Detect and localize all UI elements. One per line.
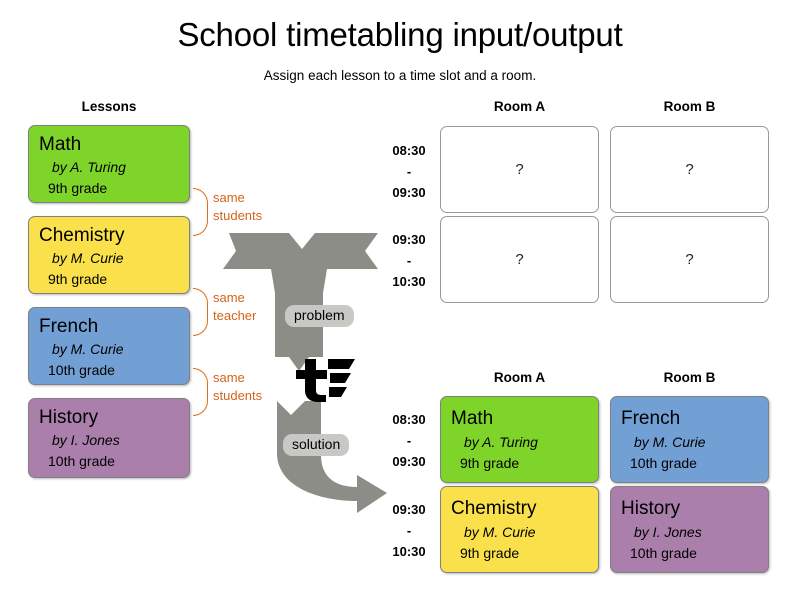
lesson-teacher: by I. Jones — [39, 430, 189, 451]
timeslot-separator: - — [378, 520, 440, 541]
lesson-grade: 10th grade — [621, 543, 768, 564]
problem-room-b-heading: Room B — [607, 99, 772, 114]
timeslot-start: 09:30 — [378, 499, 440, 520]
constraint-label-line2: students — [213, 207, 262, 225]
lesson-card-history[interactable]: History by I. Jones 10th grade — [28, 398, 190, 478]
lesson-subject: History — [621, 495, 768, 522]
solution-room-b-heading: Room B — [607, 370, 772, 385]
lesson-grade: 9th grade — [451, 453, 598, 474]
lesson-subject: History — [39, 405, 189, 430]
timeslot-end: 09:30 — [378, 451, 440, 472]
solution-timeslot-label-1: 09:30 - 10:30 — [378, 499, 440, 562]
constraint-label: same students — [213, 189, 262, 225]
bracket-icon — [193, 188, 208, 236]
timeslot-end: 10:30 — [378, 271, 440, 292]
lesson-subject: French — [39, 314, 189, 339]
lesson-teacher: by A. Turing — [39, 157, 189, 178]
problem-badge: problem — [285, 305, 354, 327]
lesson-grade: 9th grade — [451, 543, 598, 564]
lesson-teacher: by A. Turing — [451, 432, 598, 453]
solution-timeslot-label-0: 08:30 - 09:30 — [378, 409, 440, 472]
problem-room-a-heading: Room A — [437, 99, 602, 114]
lesson-subject: Chemistry — [39, 223, 189, 248]
constraint-label-line1: same — [213, 189, 262, 207]
lesson-grade: 10th grade — [621, 453, 768, 474]
problem-cell-slot1-roomA[interactable]: ? — [440, 216, 599, 303]
timeslot-separator: - — [378, 161, 440, 182]
timeslot-end: 09:30 — [378, 182, 440, 203]
lesson-teacher: by M. Curie — [39, 248, 189, 269]
timeslot-start: 09:30 — [378, 229, 440, 250]
lesson-teacher: by M. Curie — [451, 522, 598, 543]
solution-card-slot0-roomB[interactable]: French by M. Curie 10th grade — [610, 396, 769, 483]
lesson-card-chemistry[interactable]: Chemistry by M. Curie 9th grade — [28, 216, 190, 294]
bracket-icon — [193, 288, 208, 336]
lesson-grade: 9th grade — [39, 178, 189, 199]
solution-room-a-heading: Room A — [437, 370, 602, 385]
problem-timeslot-label-0: 08:30 - 09:30 — [378, 140, 440, 203]
lesson-teacher: by I. Jones — [621, 522, 768, 543]
solution-card-slot0-roomA[interactable]: Math by A. Turing 9th grade — [440, 396, 599, 483]
bracket-icon — [193, 368, 208, 416]
timeslot-separator: - — [378, 250, 440, 271]
solution-card-slot1-roomB[interactable]: History by I. Jones 10th grade — [610, 486, 769, 573]
timeslot-separator: - — [378, 430, 440, 451]
lesson-subject: French — [621, 405, 768, 432]
problem-timeslot-label-1: 09:30 - 10:30 — [378, 229, 440, 292]
problem-cell-slot0-roomB[interactable]: ? — [610, 126, 769, 213]
timeslot-start: 08:30 — [378, 140, 440, 161]
problem-cell-slot1-roomB[interactable]: ? — [610, 216, 769, 303]
lesson-subject: Chemistry — [451, 495, 598, 522]
page-title: School timetabling input/output — [0, 16, 800, 54]
lesson-grade: 9th grade — [39, 269, 189, 290]
lesson-teacher: by M. Curie — [621, 432, 768, 453]
solution-arrow-icon — [277, 401, 387, 513]
problem-arrow-icon — [223, 233, 378, 371]
lesson-card-math[interactable]: Math by A. Turing 9th grade — [28, 125, 190, 203]
timefold-logo — [289, 357, 355, 403]
lesson-subject: Math — [451, 405, 598, 432]
solution-card-slot1-roomA[interactable]: Chemistry by M. Curie 9th grade — [440, 486, 599, 573]
lesson-teacher: by M. Curie — [39, 339, 189, 360]
timeslot-end: 10:30 — [378, 541, 440, 562]
problem-cell-slot0-roomA[interactable]: ? — [440, 126, 599, 213]
lesson-grade: 10th grade — [39, 360, 189, 381]
lesson-grade: 10th grade — [39, 451, 189, 472]
timeslot-start: 08:30 — [378, 409, 440, 430]
solution-badge: solution — [283, 434, 349, 456]
lesson-card-french[interactable]: French by M. Curie 10th grade — [28, 307, 190, 385]
lesson-subject: Math — [39, 132, 189, 157]
lessons-column-heading: Lessons — [28, 99, 190, 114]
page-subtitle: Assign each lesson to a time slot and a … — [0, 68, 800, 83]
